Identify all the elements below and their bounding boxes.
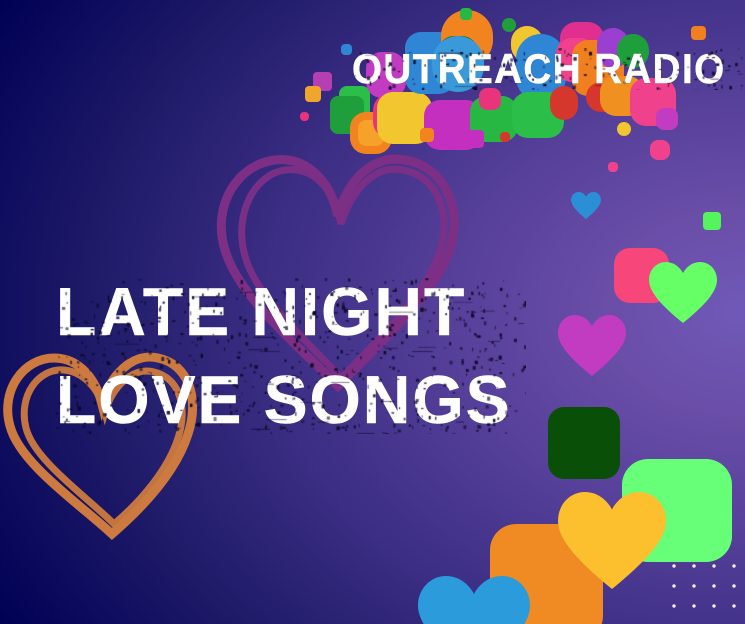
small-green-square <box>703 212 721 230</box>
magenta-heart <box>558 315 626 377</box>
yellow-heart <box>558 492 666 590</box>
green-chip-3 <box>460 8 472 20</box>
yellow-chip <box>305 86 321 102</box>
title-line-1: LATE NIGHT <box>56 278 526 346</box>
pink-chip <box>300 112 309 121</box>
pink-chip-4 <box>608 162 618 172</box>
dark-green-square <box>548 407 620 479</box>
brand-title: OUTREACH RADIO <box>352 48 745 90</box>
poster-canvas: OUTREACH RADIO LATE NIGHT LOVE SONGS <box>0 0 745 624</box>
brand-title-text: OUTREACH RADIO <box>352 48 726 90</box>
blue-small-heart <box>571 192 601 220</box>
red-chip-1 <box>500 132 510 142</box>
blue-large-heart <box>418 576 530 624</box>
dot-grid-pattern <box>660 552 745 624</box>
yellow-chip-2 <box>617 122 631 136</box>
green-chip-2 <box>502 18 516 32</box>
title-line-2: LOVE SONGS <box>56 366 526 434</box>
green-heart <box>649 262 717 324</box>
page-title: LATE NIGHT LOVE SONGS <box>56 278 526 434</box>
pink-chip-3 <box>650 140 670 160</box>
magenta-chip-2 <box>656 108 678 130</box>
orange-chip-2 <box>691 26 706 40</box>
blue-chip <box>341 44 352 55</box>
